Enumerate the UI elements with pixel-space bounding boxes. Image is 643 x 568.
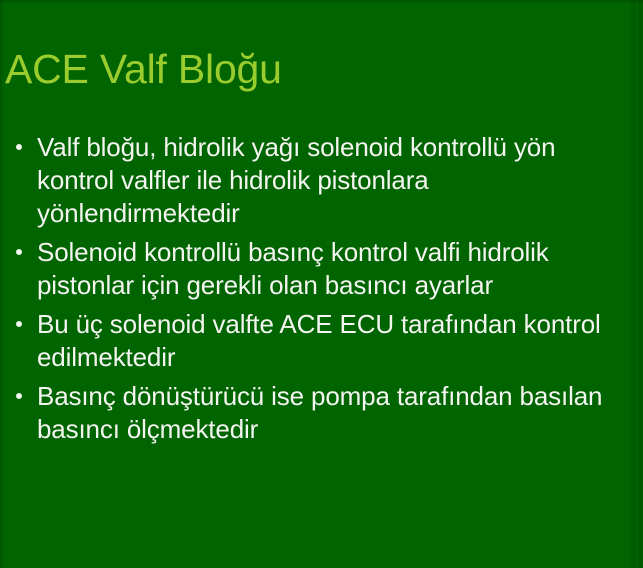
bullet-dot-icon [16, 321, 22, 327]
slide-left-edge-shading [0, 0, 4, 568]
list-item-label: Solenoid kontrollü basınç kontrol valfi … [37, 236, 637, 302]
list-item: Solenoid kontrollü basınç kontrol valfi … [7, 236, 637, 302]
slide-title: ACE Valf Bloğu [5, 45, 625, 93]
list-item-label: Bu üç solenoid valfte ACE ECU tarafından… [37, 308, 637, 374]
list-item: Bu üç solenoid valfte ACE ECU tarafından… [7, 308, 637, 374]
list-item-label: Valf bloğu, hidrolik yağı solenoid kontr… [37, 131, 637, 230]
bullet-dot-icon [16, 144, 22, 150]
bullet-dot-icon [16, 393, 22, 399]
list-item: Basınç dönüştürücü ise pompa tarafından … [7, 380, 637, 446]
list-item-label: Basınç dönüştürücü ise pompa tarafından … [37, 380, 637, 446]
slide-body-content: Valf bloğu, hidrolik yağı solenoid kontr… [7, 131, 637, 446]
presentation-slide: ACE Valf Bloğu Valf bloğu, hidrolik yağı… [0, 0, 643, 568]
slide-top-edge-shading [0, 0, 643, 3]
bullet-dot-icon [16, 249, 22, 255]
list-item: Valf bloğu, hidrolik yağı solenoid kontr… [7, 131, 637, 230]
